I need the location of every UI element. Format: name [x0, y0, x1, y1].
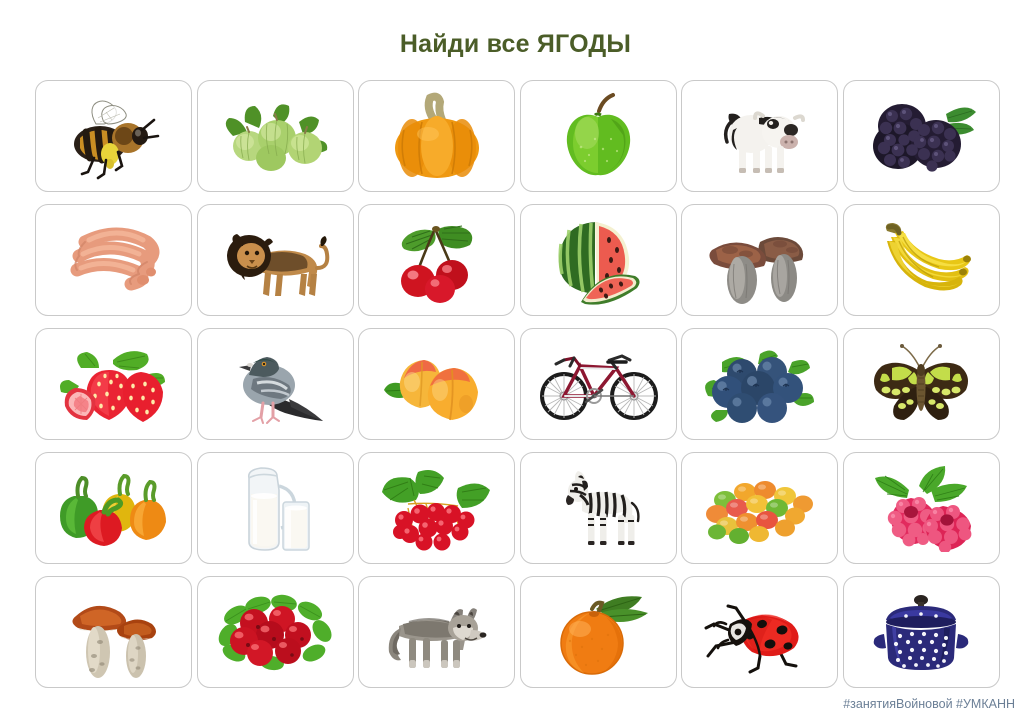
- worksheet-page: Найди все ЯГОДЫ: [0, 0, 1031, 720]
- grid-cell-porcini-mushrooms[interactable]: [681, 204, 838, 316]
- grid-cell-raspberries[interactable]: [843, 452, 1000, 564]
- boletus-mushrooms-icon: [58, 586, 170, 678]
- grid-cell-sausages[interactable]: [35, 204, 192, 316]
- cow-icon: [705, 90, 815, 182]
- grid-cell-milk-jug[interactable]: [197, 452, 354, 564]
- green-apple-icon: [551, 89, 646, 184]
- cooking-pot-icon: [866, 586, 976, 678]
- milk-jug-icon: [225, 460, 325, 556]
- bell-peppers-icon: [52, 466, 176, 550]
- grid-cell-green-apple[interactable]: [520, 80, 677, 192]
- grid-cell-cranberries[interactable]: [197, 576, 354, 688]
- picture-grid: [35, 80, 997, 688]
- hashtag-footer: #занятияВойновой #УМКАНН: [843, 697, 1015, 711]
- lion-icon: [213, 216, 337, 304]
- zebra-icon: [544, 461, 652, 555]
- grid-cell-red-currants[interactable]: [358, 452, 515, 564]
- grid-cell-cooking-pot[interactable]: [843, 576, 1000, 688]
- wolf-icon: [379, 586, 495, 678]
- grid-cell-peaches[interactable]: [358, 328, 515, 440]
- gooseberries-icon: [215, 96, 335, 176]
- grid-cell-cow[interactable]: [681, 80, 838, 192]
- grid-cell-blackberries[interactable]: [843, 80, 1000, 192]
- mandarin-icon: [540, 587, 656, 677]
- bananas-icon: [861, 217, 981, 303]
- grid-cell-mandarin[interactable]: [520, 576, 677, 688]
- grid-cell-cherries[interactable]: [358, 204, 515, 316]
- grid-cell-gumdrops[interactable]: [681, 452, 838, 564]
- grid-cell-bicycle[interactable]: [520, 328, 677, 440]
- bee-icon: [54, 90, 174, 182]
- grid-cell-lion[interactable]: [197, 204, 354, 316]
- grid-cell-bee[interactable]: [35, 80, 192, 192]
- blackberries-icon: [862, 92, 980, 180]
- pumpkin-icon: [382, 90, 492, 182]
- grid-cell-boletus-mushrooms[interactable]: [35, 576, 192, 688]
- raspberries-icon: [861, 464, 981, 552]
- grid-cell-ladybug[interactable]: [681, 576, 838, 688]
- page-title: Найди все ЯГОДЫ: [0, 30, 1031, 59]
- blueberries-icon: [700, 340, 820, 428]
- porcini-mushrooms-icon: [700, 214, 820, 306]
- grid-cell-blueberries[interactable]: [681, 328, 838, 440]
- grid-cell-gooseberries[interactable]: [197, 80, 354, 192]
- cranberries-icon: [214, 591, 336, 673]
- butterfly-icon: [862, 340, 980, 428]
- peaches-icon: [378, 342, 496, 426]
- grid-cell-pigeon[interactable]: [197, 328, 354, 440]
- red-currants-icon: [374, 464, 500, 552]
- grid-cell-bell-peppers[interactable]: [35, 452, 192, 564]
- watermelon-icon: [539, 214, 657, 306]
- grid-cell-watermelon[interactable]: [520, 204, 677, 316]
- grid-cell-pumpkin[interactable]: [358, 80, 515, 192]
- grid-cell-strawberries[interactable]: [35, 328, 192, 440]
- pigeon-icon: [219, 337, 331, 431]
- grid-cell-bananas[interactable]: [843, 204, 1000, 316]
- grid-cell-zebra[interactable]: [520, 452, 677, 564]
- grid-cell-butterfly[interactable]: [843, 328, 1000, 440]
- cherries-icon: [382, 213, 492, 307]
- sausages-icon: [55, 218, 173, 302]
- strawberries-icon: [53, 340, 175, 428]
- gumdrops-icon: [699, 470, 821, 546]
- grid-cell-wolf[interactable]: [358, 576, 515, 688]
- ladybug-icon: [700, 590, 820, 674]
- bicycle-icon: [534, 344, 662, 424]
